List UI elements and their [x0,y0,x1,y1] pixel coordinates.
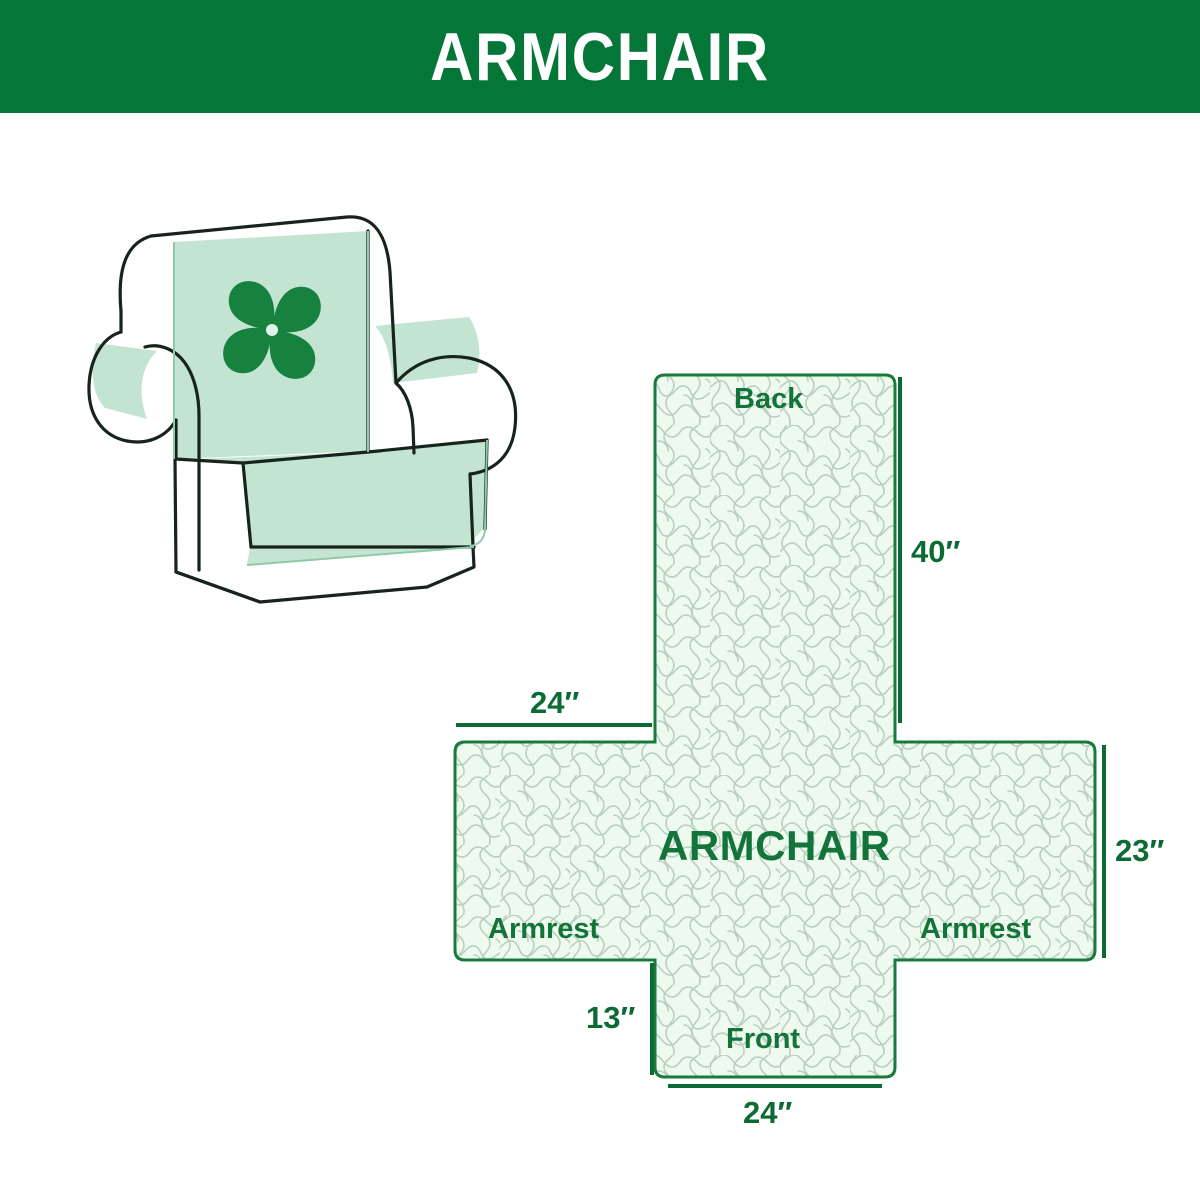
dimension-label-13: 13″ [586,1000,635,1036]
section-label-front: Front [726,1023,800,1056]
section-label-armrest-left: Armrest [488,913,599,946]
dimension-label-40: 40″ [911,534,960,570]
header-bar: ARMCHAIR [0,0,1200,113]
diagram-center-label: ARMCHAIR [658,822,891,870]
section-label-armrest-right: Armrest [920,913,1031,946]
section-label-back: Back [734,383,803,416]
page-title: ARMCHAIR [430,23,770,91]
dimension-label-24-top: 24″ [530,685,579,721]
dimension-label-23: 23″ [1115,833,1164,869]
armchair-cover-pattern-diagram: Back ARMCHAIR Armrest Armrest Front 40″ … [430,355,1200,1145]
product-dimension-diagram-page: ARMCHAIR [0,0,1200,1200]
chair-left-arm-cover [93,343,157,419]
dimension-label-24-bottom: 24″ [743,1095,792,1131]
